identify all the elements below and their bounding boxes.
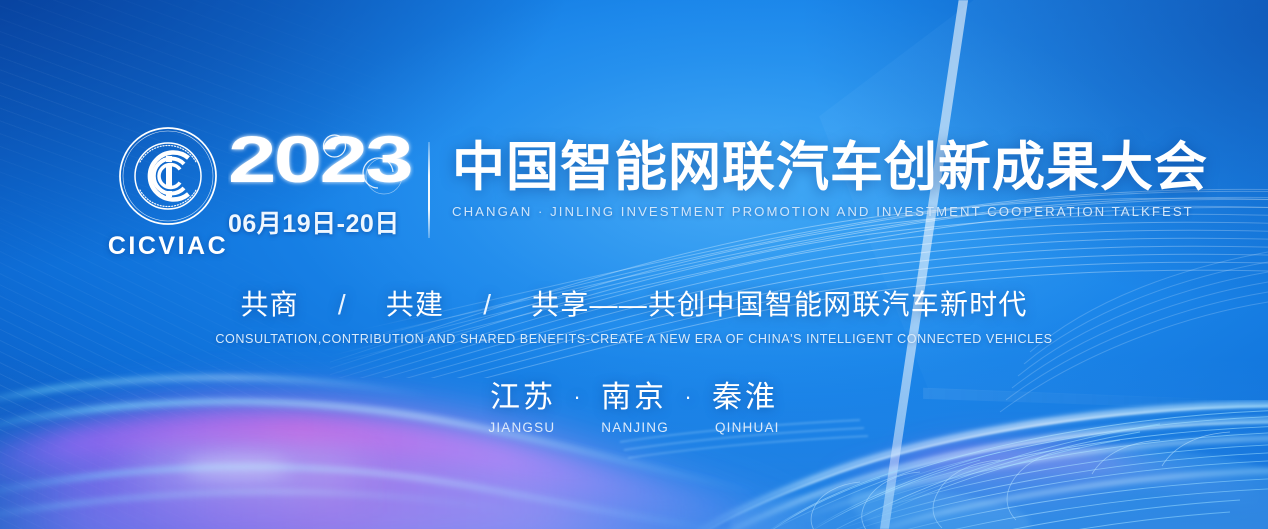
conference-banner: CICVIAC 2023 [0,0,1268,529]
brand-logo: CICVIAC [104,126,232,261]
slogan-separator-1: / [308,289,377,321]
slogan-english: CONSULTATION,CONTRIBUTION AND SHARED BEN… [0,332,1268,346]
location-english: JIANGSU NANJING QINHUAI [0,420,1268,435]
banner-content: CICVIAC 2023 [0,0,1268,529]
page-title: 中国智能网联汽车创新成果大会 [452,138,1208,197]
slogan-separator-2: / [453,289,522,321]
location-block: 江苏 · 南京 · 秦淮 JIANGSU NANJING QINHUAI [0,372,1268,435]
location-separator-1: · [567,384,589,409]
slogan-block: 共商 / 共建 / 共享——共创中国智能网联汽车新时代 CONSULTATION… [0,283,1268,346]
year-block: 2023 06月19日-20日 [228,124,418,240]
cicviac-emblem-icon [118,126,218,226]
event-date: 06月19日-20日 [228,204,418,240]
title-block: 中国智能网联汽车创新成果大会 CHANGAN · JINLING INVESTM… [452,138,1208,219]
location-province-cn: 江苏 [490,381,556,414]
location-separator-2: · [678,384,700,409]
location-chinese: 江苏 · 南京 · 秦淮 [0,372,1268,416]
svg-text:2023: 2023 [228,124,411,196]
slogan-part-2: 共建 [386,289,444,320]
slogan-chinese: 共商 / 共建 / 共享——共创中国智能网联汽车新时代 [0,283,1268,323]
location-district-en: QINHUAI [715,420,780,435]
location-district-cn: 秦淮 [712,381,778,414]
page-subtitle-en: CHANGAN · JINLING INVESTMENT PROMOTION A… [452,204,1208,219]
location-province-en: JIANGSU [488,420,555,435]
location-city-cn: 南京 [601,381,667,414]
year-2023-graphic: 2023 [228,124,414,202]
slogan-part-1: 共商 [240,289,298,320]
logo-wordmark: CICVIAC [104,232,232,261]
slogan-part-3: 共享——共创中国智能网联汽车新时代 [531,289,1027,320]
vertical-divider [428,142,430,238]
location-city-en: NANJING [601,420,669,435]
